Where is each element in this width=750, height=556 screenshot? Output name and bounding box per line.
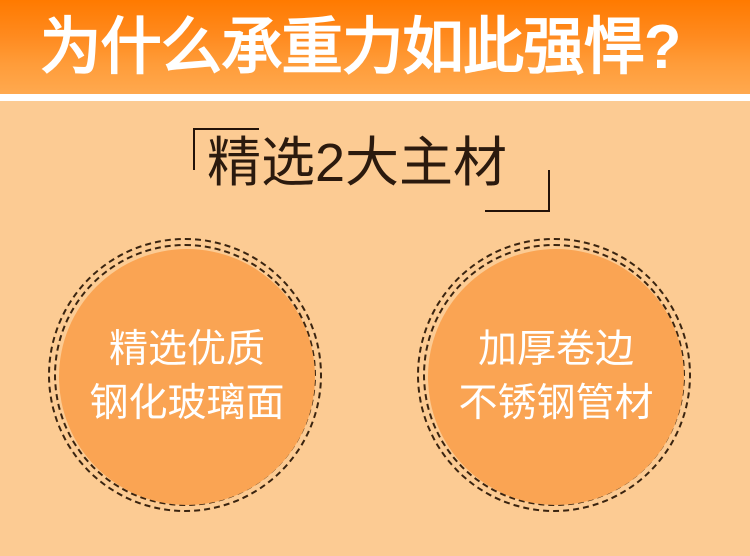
feature-line-2: 不锈钢管材 [458,377,653,431]
bracket-bottom-right-decoration [485,170,550,212]
feature-line-1: 精选优质 [109,323,265,377]
feature-line-2: 钢化玻璃面 [89,377,284,431]
page-title: 为什么承重力如此强悍? [40,11,680,85]
feature-circle-body: 加厚卷边 不锈钢管材 [428,249,684,505]
feature-circle-body: 精选优质 钢化玻璃面 [59,249,315,505]
banner-separator [0,94,750,101]
header-banner: 为什么承重力如此强悍? [0,0,750,94]
subtitle: 精选2大主材 [207,130,507,196]
subtitle-block: 精选2大主材 [193,128,553,213]
feature-circle-left: 精选优质 钢化玻璃面 [48,238,326,516]
feature-circle-right: 加厚卷边 不锈钢管材 [417,238,695,516]
body-area: 精选2大主材 精选优质 钢化玻璃面 加厚卷边 不锈钢管材 [0,101,750,556]
feature-line-1: 加厚卷边 [478,323,634,377]
promo-banner-page: 为什么承重力如此强悍? 精选2大主材 精选优质 钢化玻璃面 加厚卷边 不锈钢管材 [0,0,750,556]
